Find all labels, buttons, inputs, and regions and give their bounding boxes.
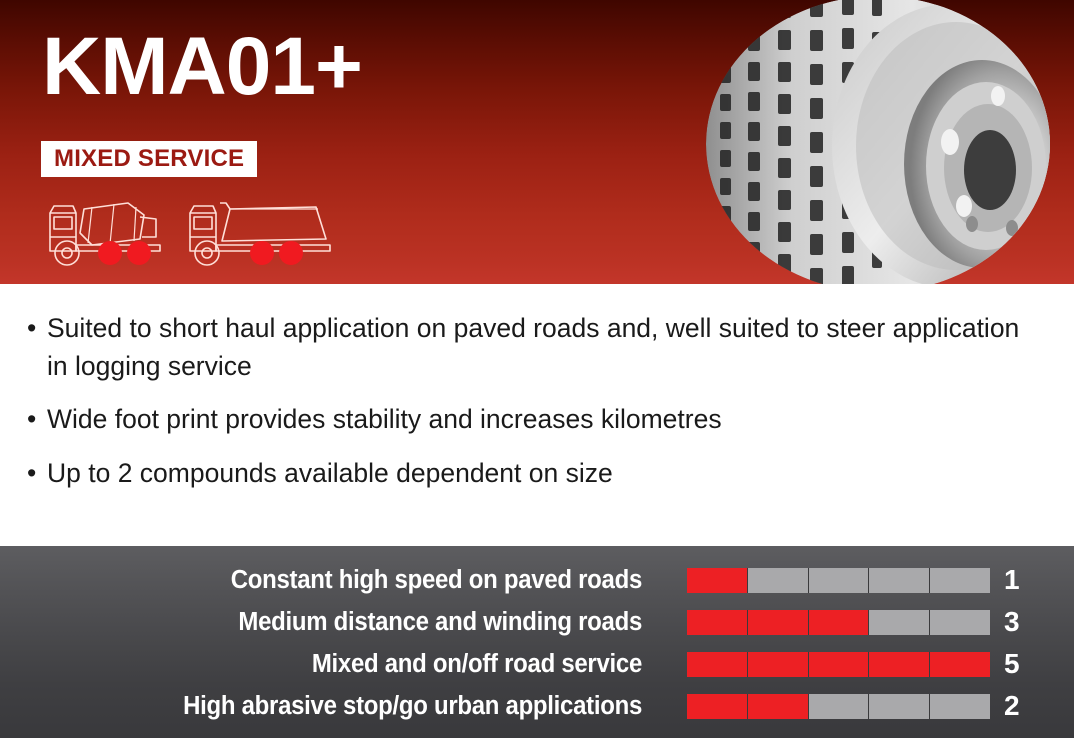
bar-segment bbox=[930, 652, 990, 677]
bar-segment bbox=[687, 568, 747, 593]
status-badge: MIXED SERVICE bbox=[41, 141, 257, 177]
rating-label: Mixed and on/off road service bbox=[39, 650, 642, 679]
bar-segment bbox=[869, 652, 929, 677]
rating-value: 2 bbox=[1004, 692, 1020, 720]
bullet-dot-icon: • bbox=[27, 310, 47, 348]
truck-tire-photo: KMA 01 ENDURANCE bbox=[682, 0, 1074, 284]
service-badge-label: MIXED SERVICE bbox=[54, 147, 244, 171]
rating-value: 3 bbox=[1004, 608, 1020, 636]
table-row: Medium distance and winding roads 3 bbox=[0, 605, 1074, 639]
rating-bar bbox=[687, 610, 990, 635]
bar-segment bbox=[687, 610, 747, 635]
table-row: Constant high speed on paved roads 1 bbox=[0, 563, 1074, 597]
list-item: • Suited to short haul application on pa… bbox=[27, 310, 1047, 385]
truck-type-icons bbox=[40, 193, 350, 273]
rating-label: Constant high speed on paved roads bbox=[39, 566, 642, 595]
bar-segment bbox=[809, 610, 869, 635]
rating-bar bbox=[687, 568, 990, 593]
bar-segment bbox=[687, 694, 747, 719]
page-title: KMA01+ bbox=[42, 26, 362, 108]
bar-segment bbox=[809, 652, 869, 677]
bar-segment bbox=[748, 610, 808, 635]
application-ratings-panel: Constant high speed on paved roads 1 Med… bbox=[0, 546, 1074, 738]
bar-segment bbox=[809, 694, 869, 719]
rating-label: Medium distance and winding roads bbox=[39, 608, 642, 637]
list-item: • Up to 2 compounds available dependent … bbox=[27, 455, 1047, 493]
table-row: Mixed and on/off road service 5 bbox=[0, 647, 1074, 681]
feature-text: Up to 2 compounds available dependent on… bbox=[47, 455, 1047, 493]
bar-segment bbox=[869, 694, 929, 719]
rating-label: High abrasive stop/go urban applications bbox=[39, 692, 642, 721]
bar-segment bbox=[930, 610, 990, 635]
bar-segment bbox=[930, 694, 990, 719]
bullet-dot-icon: • bbox=[27, 401, 47, 439]
rating-bar bbox=[687, 652, 990, 677]
feature-bullet-list: • Suited to short haul application on pa… bbox=[27, 310, 1047, 509]
bar-segment bbox=[748, 694, 808, 719]
bar-segment bbox=[748, 652, 808, 677]
bar-segment bbox=[809, 568, 869, 593]
product-header-banner: KMA01+ MIXED SERVICE bbox=[0, 0, 1074, 284]
bar-segment bbox=[930, 568, 990, 593]
list-item: • Wide foot print provides stability and… bbox=[27, 401, 1047, 439]
bullet-dot-icon: • bbox=[27, 455, 47, 493]
bar-segment bbox=[869, 568, 929, 593]
bar-segment bbox=[869, 610, 929, 635]
bar-segment bbox=[687, 652, 747, 677]
features-section: • Suited to short haul application on pa… bbox=[0, 284, 1074, 546]
feature-text: Wide foot print provides stability and i… bbox=[47, 401, 1047, 439]
rating-value: 5 bbox=[1004, 650, 1020, 678]
table-row: High abrasive stop/go urban applications… bbox=[0, 689, 1074, 723]
rating-bar bbox=[687, 694, 990, 719]
bar-segment bbox=[748, 568, 808, 593]
rating-value: 1 bbox=[1004, 566, 1020, 594]
feature-text: Suited to short haul application on pave… bbox=[47, 310, 1047, 385]
